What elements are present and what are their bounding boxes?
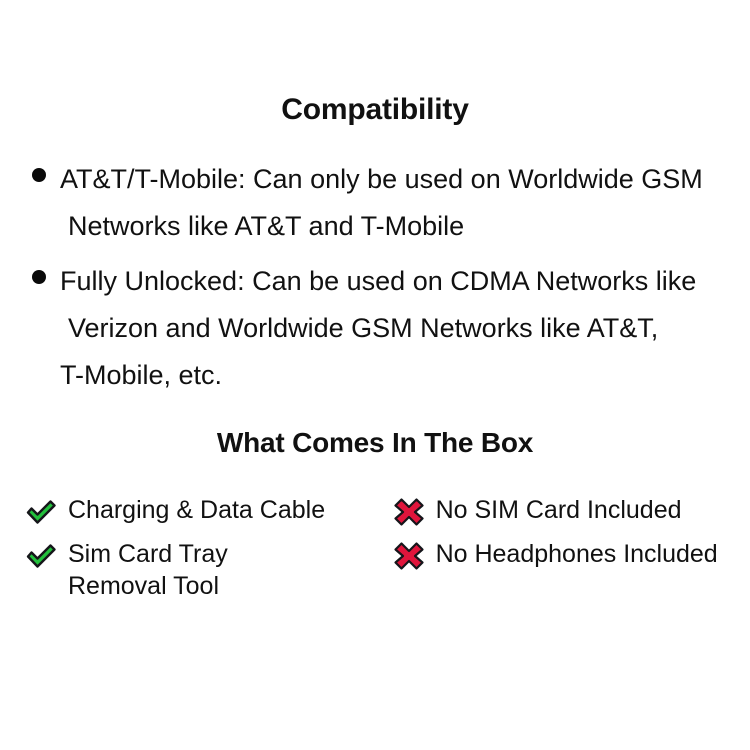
included-item-label: Sim Card Tray Removal Tool: [68, 538, 228, 602]
red-cross-icon: [392, 540, 426, 572]
green-check-icon: [24, 496, 58, 528]
compatibility-item-line: T-Mobile, etc.: [60, 352, 750, 399]
list-item: AT&T/T-Mobile: Can only be used on World…: [0, 156, 750, 250]
filled-circle-bullet-icon: [32, 270, 46, 284]
compatibility-item-text: Fully Unlocked: Can be used on CDMA Netw…: [60, 258, 750, 399]
compatibility-list: AT&T/T-Mobile: Can only be used on World…: [0, 156, 750, 407]
included-item-label: Charging & Data Cable: [68, 494, 325, 526]
box-contents-grid: Charging & Data Cable Sim Card Tray Remo…: [0, 494, 750, 612]
compatibility-item-line: Networks like AT&T and T-Mobile: [68, 203, 750, 250]
not-included-item-line: No SIM Card Included: [436, 494, 682, 526]
not-included-item-line: No Headphones Included: [436, 538, 718, 570]
list-item: Sim Card Tray Removal Tool: [24, 538, 377, 602]
included-column: Charging & Data Cable Sim Card Tray Remo…: [0, 494, 377, 612]
list-item: Charging & Data Cable: [24, 494, 377, 528]
included-item-line: Removal Tool: [68, 570, 228, 602]
list-item: Fully Unlocked: Can be used on CDMA Netw…: [0, 258, 750, 399]
filled-circle-bullet-icon: [32, 168, 46, 182]
not-included-item-label: No Headphones Included: [436, 538, 718, 570]
list-item: No Headphones Included: [392, 538, 750, 572]
list-item: No SIM Card Included: [392, 494, 750, 528]
compatibility-item-line: AT&T/T-Mobile: Can only be used on World…: [60, 164, 703, 194]
compatibility-item-line: Fully Unlocked: Can be used on CDMA Netw…: [60, 266, 696, 296]
product-info-page: Compatibility AT&T/T-Mobile: Can only be…: [0, 0, 750, 750]
included-item-line: Sim Card Tray: [68, 538, 228, 570]
green-check-icon: [24, 540, 58, 572]
red-cross-icon: [392, 496, 426, 528]
box-contents-heading: What Comes In The Box: [0, 426, 750, 460]
included-item-line: Charging & Data Cable: [68, 494, 325, 526]
compatibility-item-line: Verizon and Worldwide GSM Networks like …: [68, 305, 750, 352]
not-included-column: No SIM Card Included No Headphones Inclu…: [377, 494, 750, 612]
compatibility-item-text: AT&T/T-Mobile: Can only be used on World…: [60, 156, 750, 250]
not-included-item-label: No SIM Card Included: [436, 494, 682, 526]
compatibility-heading: Compatibility: [0, 92, 750, 128]
